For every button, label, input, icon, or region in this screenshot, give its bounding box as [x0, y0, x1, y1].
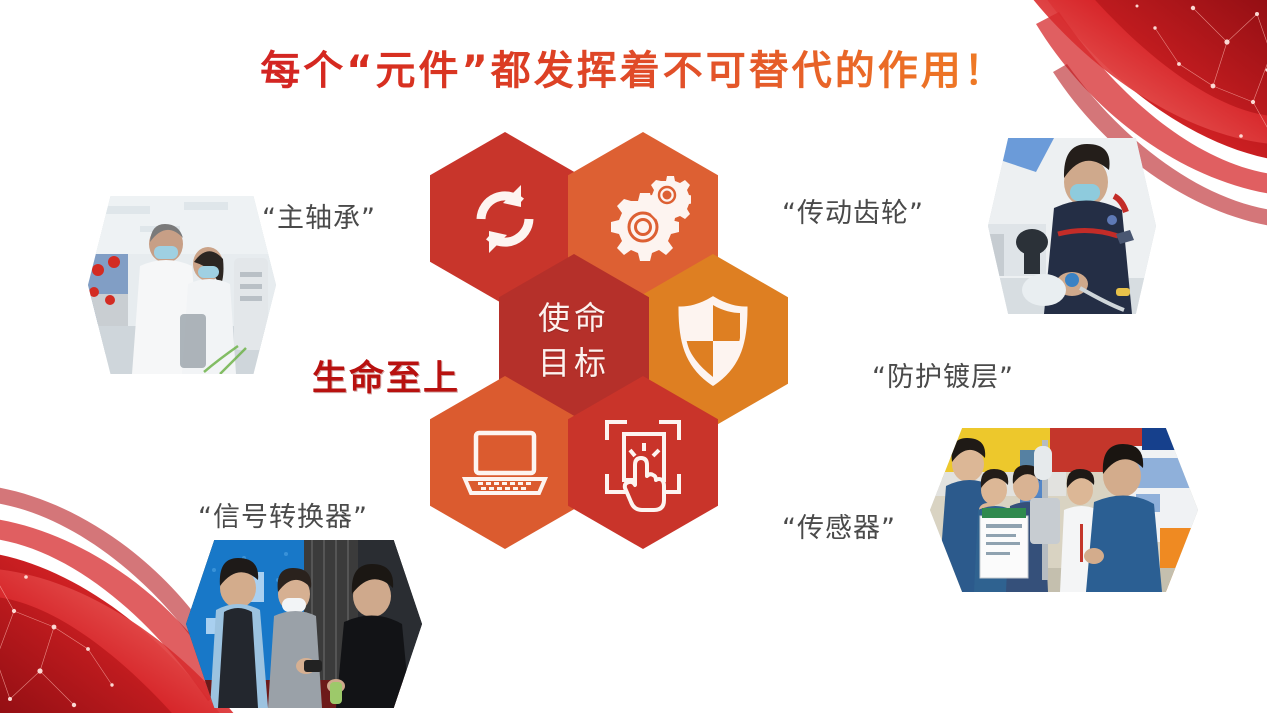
life-first-motto: 生命至上 — [312, 350, 460, 401]
photo-sensor — [930, 428, 1198, 592]
label-drive-gear: “传动齿轮” — [782, 191, 924, 230]
label-sensor: “传感器” — [782, 506, 896, 545]
photo-signal-converter — [186, 540, 422, 708]
photo-main-bearing — [88, 196, 276, 374]
label-protective-coating: “防护镀层” — [872, 355, 1014, 394]
gears-icon — [595, 175, 691, 263]
slide-title: 每个“元件”都发挥着不可替代的作用！ — [0, 38, 1267, 96]
label-signal-converter: “信号转换器” — [198, 495, 368, 534]
mission-goal-text: 使命 目标 — [538, 296, 610, 384]
touch-sensor-icon — [597, 414, 689, 512]
laptop-icon — [459, 427, 551, 499]
goal-line: 目标 — [538, 341, 610, 385]
photo-drive-gear — [988, 138, 1156, 314]
label-main-bearing: “主轴承” — [262, 196, 376, 235]
hexagon-cluster: 使命 目标 — [420, 132, 790, 602]
refresh-cycle-icon — [459, 173, 551, 265]
mission-line: 使命 — [538, 296, 610, 340]
slide-canvas: 每个“元件”都发挥着不可替代的作用！ — [0, 0, 1267, 713]
shield-icon — [674, 295, 752, 387]
